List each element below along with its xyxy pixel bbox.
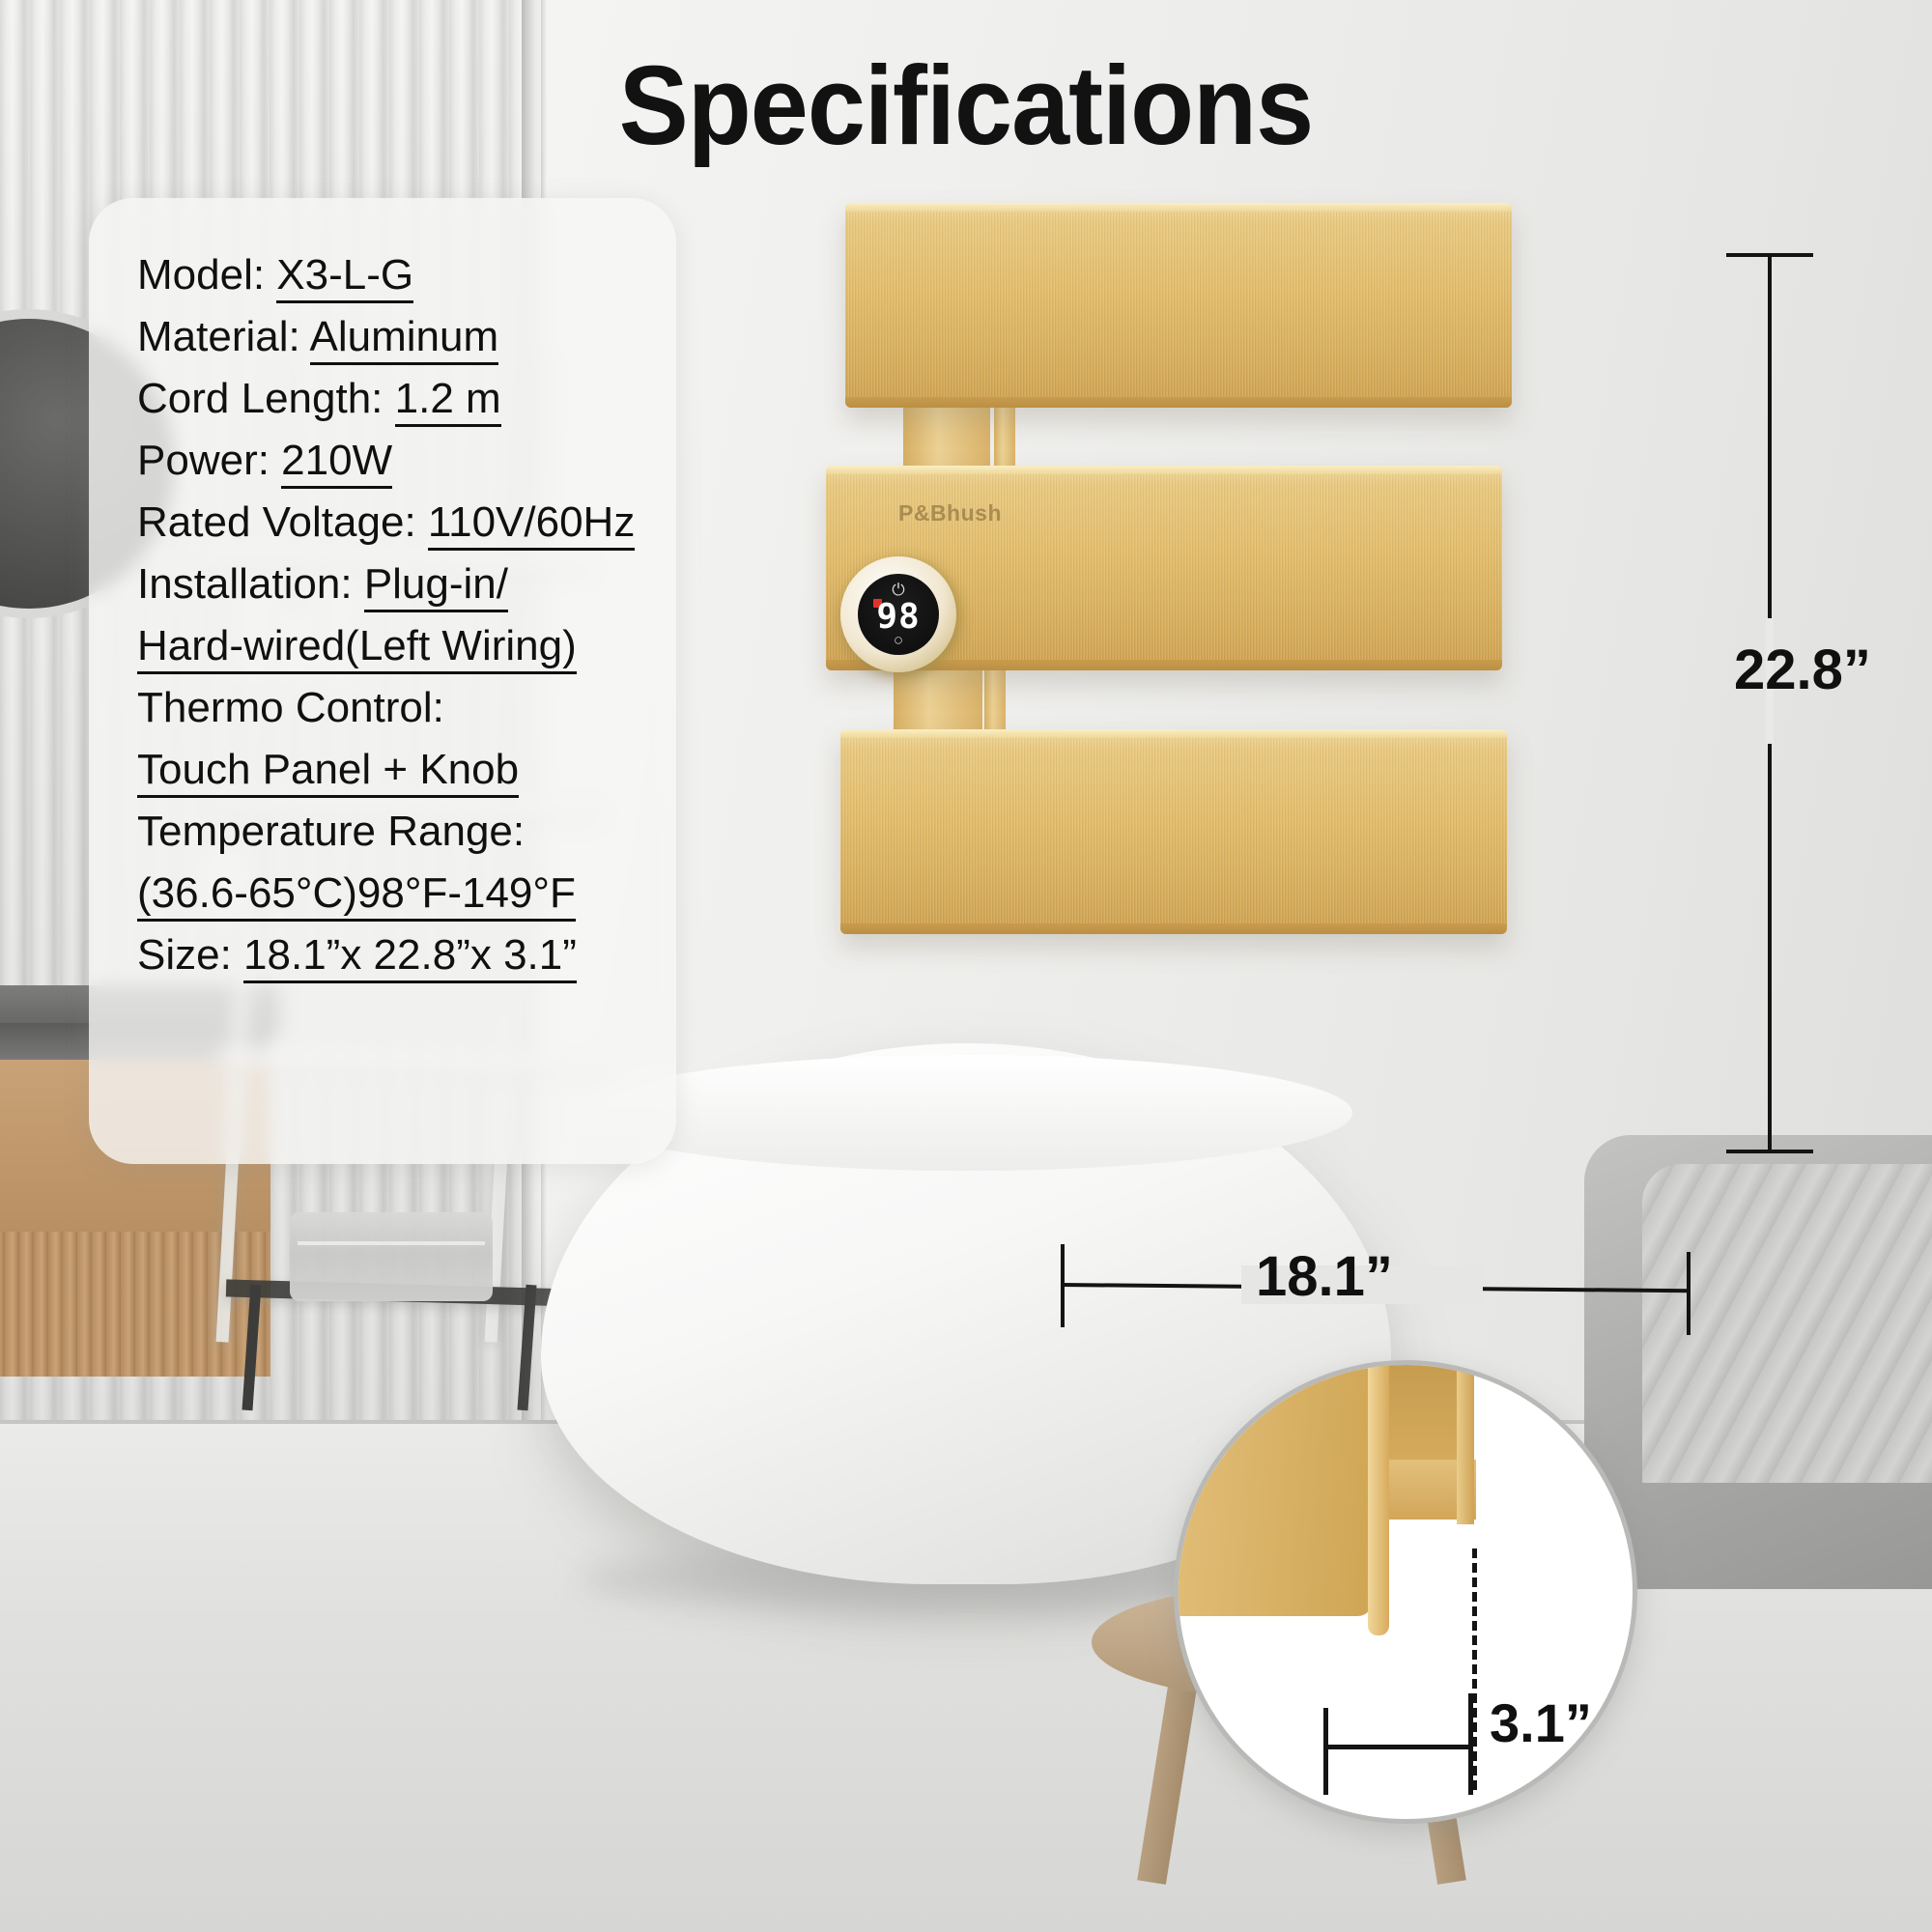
spec-value: Aluminum [310, 313, 499, 365]
spec-row: Model: X3-L-G [137, 244, 657, 306]
spec-value: Touch Panel + Knob [137, 746, 519, 798]
spec-row: Material: Aluminum [137, 306, 657, 368]
towel-bar-top [845, 203, 1512, 408]
depth-detail-callout: 3.1” [1174, 1360, 1637, 1824]
thermostat-knob[interactable]: ⏻ 98 ○ [840, 556, 956, 672]
temperature-readout: 98 [858, 600, 939, 635]
spec-row: Power: 210W [137, 430, 657, 492]
width-dimension-label: 18.1” [1256, 1244, 1393, 1309]
spec-value: 1.2 m [395, 375, 501, 427]
spec-value: Hard-wired(Left Wiring) [137, 622, 577, 674]
spec-value: Plug-in/ [364, 560, 508, 612]
width-dimension-cap-left [1061, 1244, 1065, 1327]
spec-row: Installation: Plug-in/ [137, 554, 657, 615]
depth-dimension-line [1325, 1745, 1470, 1749]
spec-label: Temperature Range: [137, 808, 525, 855]
spec-label: Thermo Control: [137, 684, 444, 731]
towel-bar-bottom [840, 729, 1507, 934]
brand-logo: P&Bhush [898, 500, 1002, 526]
spec-row: Hard-wired(Left Wiring) [137, 615, 657, 677]
spec-label: Size: [137, 931, 243, 979]
spec-value: 18.1”x 22.8”x 3.1” [243, 931, 577, 983]
poster-canvas: Specifications Model: X3-L-G Material: A… [0, 0, 1932, 1932]
spec-row: Thermo Control: [137, 677, 657, 739]
spec-row: Size: 18.1”x 22.8”x 3.1” [137, 924, 657, 986]
spec-label: Model: [137, 251, 276, 298]
detail-bar-face [1174, 1360, 1372, 1616]
spec-row: (36.6-65°C)98°F-149°F [137, 863, 657, 924]
throw-blanket [1642, 1164, 1932, 1483]
spec-value: 110V/60Hz [428, 498, 635, 551]
spec-value: 210W [281, 437, 392, 489]
spec-label: Cord Length: [137, 375, 395, 422]
width-dimension-cap-right [1687, 1252, 1690, 1335]
towel-warmer-product: P&Bhush ⏻ 98 ○ [1038, 241, 1676, 1198]
spec-row: Touch Panel + Knob [137, 739, 657, 801]
spec-row: Rated Voltage: 110V/60Hz [137, 492, 657, 554]
folded-towels [290, 1212, 493, 1301]
spec-row: Cord Length: 1.2 m [137, 368, 657, 430]
power-icon[interactable]: ⏻ [858, 582, 939, 598]
depth-dimension-cap-left [1323, 1708, 1328, 1795]
specifications-card: Model: X3-L-G Material: Aluminum Cord Le… [89, 198, 676, 1164]
spec-label: Power: [137, 437, 281, 484]
detail-bar-right-edge [1457, 1360, 1474, 1524]
spec-label: Installation: [137, 560, 364, 608]
height-dimension-cap-top [1726, 253, 1813, 257]
detail-bar-edge [1368, 1360, 1389, 1635]
depth-dimension-label: 3.1” [1490, 1691, 1592, 1754]
spec-value: (36.6-65°C)98°F-149°F [137, 869, 576, 922]
spec-label: Rated Voltage: [137, 498, 428, 546]
timer-icon[interactable]: ○ [858, 632, 939, 648]
height-dimension-label: 22.8” [1734, 638, 1871, 702]
spec-label: Material: [137, 313, 310, 360]
page-title: Specifications [68, 41, 1864, 170]
led-display: ⏻ 98 ○ [858, 574, 939, 655]
height-dimension-cap-bottom [1726, 1150, 1813, 1153]
spec-row: Temperature Range: [137, 801, 657, 863]
specifications-list: Model: X3-L-G Material: Aluminum Cord Le… [137, 244, 657, 986]
spec-value: X3-L-G [276, 251, 413, 303]
